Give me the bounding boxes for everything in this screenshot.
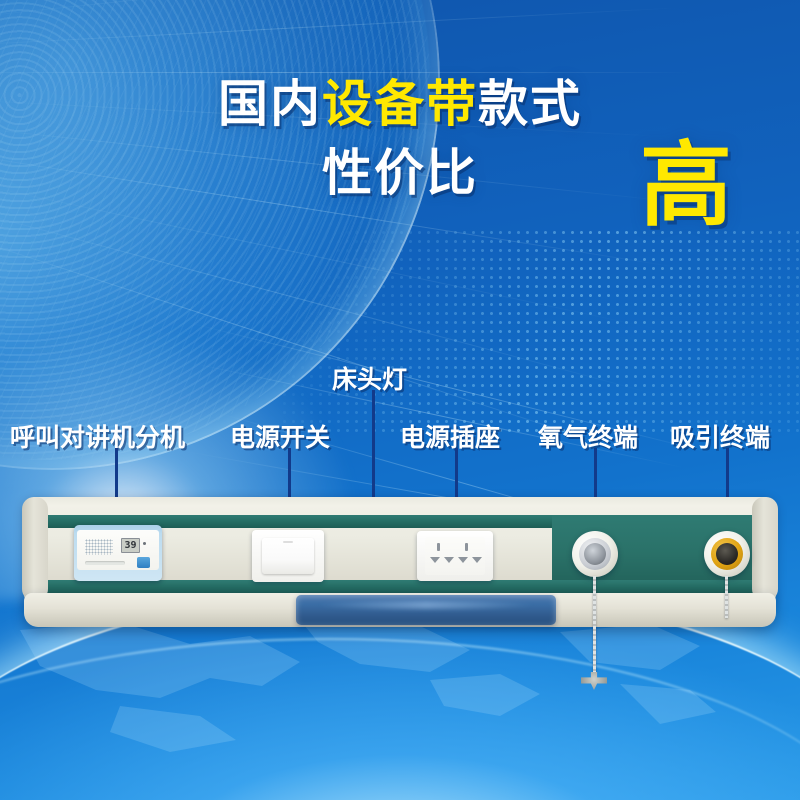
- panel-end-cap-right: [752, 497, 778, 601]
- panel-end-cap-left: [22, 497, 48, 601]
- socket-slot-icon: [430, 557, 440, 563]
- suction-terminal[interactable]: [704, 531, 750, 577]
- socket-pin-icon: [437, 543, 440, 551]
- callout-label-bed-lamp: 床头灯: [332, 360, 407, 396]
- bed-lamp-strip[interactable]: [296, 595, 556, 625]
- oxygen-terminal-port: [584, 543, 606, 565]
- socket-slot-icon: [458, 557, 468, 563]
- nurse-call-intercom[interactable]: 39: [74, 525, 162, 581]
- power-socket[interactable]: [417, 531, 493, 581]
- callout-label-intercom: 呼叫对讲机分机: [10, 418, 185, 454]
- headline-part-3: 款式: [478, 76, 582, 132]
- intercom-face: 39: [77, 530, 159, 570]
- headline-line-1: 国内设备带款式: [0, 78, 800, 131]
- callout-label-suction-outlet: 吸引终端: [670, 418, 770, 454]
- headline-emphasis: 高: [640, 140, 732, 232]
- promo-banner: 国内设备带款式 性价比 高 呼叫对讲机分机电源开关床头灯电源插座氧气终端吸引终端…: [0, 0, 800, 800]
- intercom-slot: [85, 561, 125, 565]
- power-switch-rocker[interactable]: [262, 538, 314, 574]
- panel-stripe-bottom: [24, 580, 776, 593]
- world-map-silhouette: [0, 620, 800, 800]
- headline-part-2: 设备带: [322, 76, 478, 132]
- halftone-dot-pattern: [280, 228, 800, 433]
- speaker-grille-icon: [85, 539, 113, 555]
- callout-label-power-switch: 电源开关: [230, 418, 330, 454]
- socket-pin-icon: [465, 543, 468, 551]
- suction-terminal-port: [716, 543, 738, 565]
- power-socket-face: [425, 537, 485, 575]
- callout-label-oxygen-outlet: 氧气终端: [538, 418, 638, 454]
- socket-slot-icon: [444, 557, 454, 563]
- indicator-dot-icon: [143, 542, 146, 545]
- oxygen-terminal[interactable]: [572, 531, 618, 577]
- suction-pull-cord[interactable]: [725, 576, 728, 618]
- socket-slot-icon: [472, 557, 482, 563]
- intercom-display: 39: [121, 538, 140, 553]
- intercom-call-button[interactable]: [137, 557, 150, 568]
- power-switch[interactable]: [252, 530, 324, 582]
- oxygen-pull-cord[interactable]: [593, 576, 596, 672]
- callout-label-power-socket: 电源插座: [400, 418, 500, 454]
- headline-part-1: 国内: [218, 76, 322, 132]
